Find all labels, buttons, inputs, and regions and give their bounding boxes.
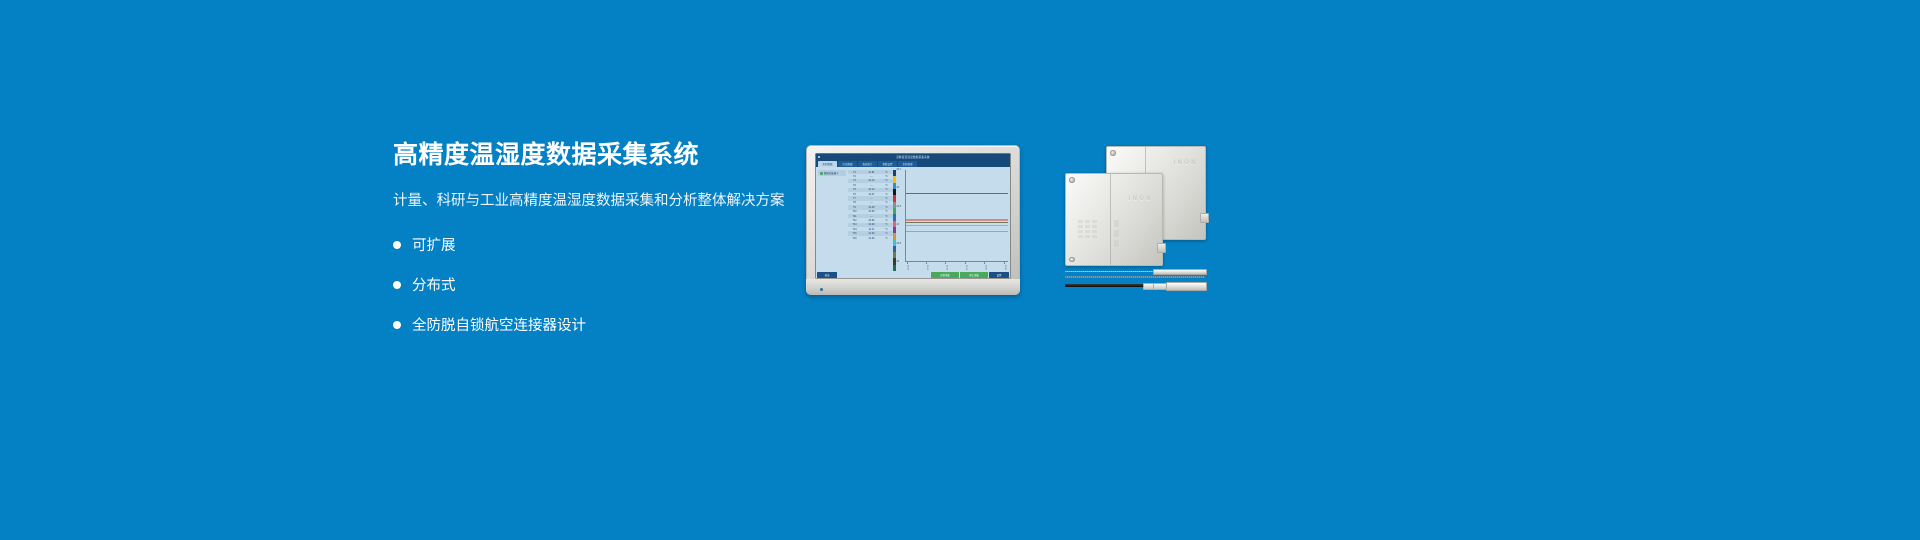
feature-item-3: 全防脱自锁航空连接器设计	[393, 314, 813, 335]
cell-channel: T14	[848, 228, 861, 231]
feature-item-2: 分布式	[393, 274, 813, 295]
device-node-label: 数据采集器-1	[824, 171, 838, 175]
feature-label: 分布式	[412, 274, 456, 295]
channel-color-legend	[893, 170, 896, 271]
cell-unit: ℃	[882, 193, 891, 196]
cell-value: 24.94	[861, 237, 882, 240]
online-status-icon	[820, 172, 823, 175]
cell-channel: T2	[848, 175, 861, 178]
cell-value: 24.12	[861, 188, 882, 191]
aviation-connector-shell	[1166, 282, 1207, 291]
settings-button[interactable]: 设置	[989, 272, 1009, 278]
probe-cable-black	[1065, 284, 1147, 287]
x-tick-label: 09:30	[965, 265, 967, 270]
cell-channel: T8	[848, 201, 861, 204]
chart-series-line	[906, 222, 1009, 223]
cell-unit: ℃	[882, 179, 891, 182]
cell-value: 24.06	[861, 210, 882, 213]
page-subtitle: 计量、科研与工业高精度温湿度数据采集和分析整体解决方案	[393, 192, 813, 211]
chart-series-line	[906, 231, 1009, 232]
screw-icon	[1110, 150, 1116, 156]
software-tabbar: 实时数据 历史数据 报表统计 参数设置 系统管理	[816, 160, 1010, 167]
temperature-probe-braided	[1065, 269, 1205, 274]
y-tick-label: 25	[897, 187, 900, 189]
x-tick-label: 09:50	[1004, 265, 1006, 270]
device-tree-panel: 数据采集器-1	[816, 167, 848, 271]
chart-plot-area	[905, 170, 1009, 262]
promo-banner: 高精度温湿度数据采集系统 计量、科研与工业高精度温湿度数据采集和分析整体解决方案…	[0, 0, 1920, 540]
x-tick-label: 09:20	[945, 265, 947, 270]
temperature-probe-aviation-connector	[1065, 283, 1205, 288]
cell-value: 23.92	[861, 219, 882, 222]
software-body: 数据采集器-1 T121.81℃T2---℃T324.19℃T4---℃T524…	[816, 167, 1010, 271]
brand-logo-back: INON	[1173, 160, 1198, 166]
cell-unit: ℃	[882, 206, 891, 209]
bullet-dot-icon	[393, 321, 401, 329]
probe-sheath	[1153, 269, 1207, 275]
port-icon	[1114, 230, 1119, 237]
app-icon	[818, 156, 820, 158]
cell-value: ---	[861, 215, 882, 218]
cell-value: 24.38	[861, 206, 882, 209]
cell-unit: ℃	[882, 215, 891, 218]
cell-channel: T3	[848, 179, 861, 182]
channel-table: T121.81℃T2---℃T324.19℃T4---℃T524.12℃T624…	[848, 167, 893, 271]
chart-y-axis: 25.12524.52423.523	[897, 170, 904, 262]
aviation-connector-port	[1200, 213, 1209, 223]
cell-channel: T11	[848, 215, 861, 218]
cell-channel: T7	[848, 197, 861, 200]
cell-channel: T4	[848, 184, 861, 187]
cell-value: 24.11	[861, 228, 882, 231]
screw-icon	[1069, 177, 1075, 183]
start-acquisition-button[interactable]: 开始采集	[931, 272, 959, 278]
cell-unit: ℃	[882, 237, 891, 240]
cell-unit: ℃	[882, 175, 891, 178]
x-tick-label: 09:00	[907, 265, 909, 270]
feature-label: 全防脱自锁航空连接器设计	[412, 314, 586, 335]
table-row[interactable]: T1624.94℃	[848, 236, 893, 240]
keypad-icon	[1078, 220, 1108, 246]
cell-channel: T1	[848, 171, 861, 174]
port-icon	[1114, 240, 1119, 247]
window-title: 高精度温湿度数据采集系统	[896, 155, 930, 159]
y-tick-label: 24.5	[897, 206, 901, 208]
cell-unit: ℃	[882, 228, 891, 231]
cell-value: ---	[861, 197, 882, 200]
cell-unit: ℃	[882, 223, 891, 226]
software-footer: 退出 开始采集 停止采集 设置	[816, 271, 1010, 278]
cell-unit: ℃	[882, 171, 891, 174]
cell-channel: T10	[848, 210, 861, 213]
cell-value: 24.19	[861, 179, 882, 182]
cell-value: 21.81	[861, 171, 882, 174]
y-tick-label: 25.1	[897, 169, 901, 171]
cell-value: ---	[861, 201, 882, 204]
cell-unit: ℃	[882, 219, 891, 222]
copy-block: 高精度温湿度数据采集系统 计量、科研与工业高精度温湿度数据采集和分析整体解决方案…	[393, 142, 813, 354]
x-tick-label: 09:10	[926, 265, 928, 270]
monitor-screen-well: 高精度温湿度数据采集系统 实时数据 历史数据 报表统计 参数设置 系统管理 数据…	[815, 153, 1011, 279]
cell-value: ---	[861, 184, 882, 187]
cell-unit: ℃	[882, 210, 891, 213]
feature-list: 可扩展 分布式 全防脱自锁航空连接器设计	[393, 234, 813, 335]
cell-unit: ℃	[882, 232, 891, 235]
screw-icon	[1069, 257, 1075, 263]
monitor-chin	[806, 279, 1020, 295]
panel-pc-monitor: 高精度温湿度数据采集系统 实时数据 历史数据 报表统计 参数设置 系统管理 数据…	[806, 145, 1020, 295]
hardware-group: INON INON	[1063, 143, 1208, 298]
chart-series-line	[906, 193, 1009, 194]
device-tree-node[interactable]: 数据采集器-1	[818, 170, 846, 176]
panel-seam	[1110, 174, 1111, 265]
feature-item-1: 可扩展	[393, 234, 813, 255]
exit-button[interactable]: 退出	[817, 272, 837, 278]
probe-cable	[1065, 271, 1155, 273]
cell-channel: T6	[848, 193, 861, 196]
stop-acquisition-button[interactable]: 停止采集	[960, 272, 988, 278]
cell-unit: ℃	[882, 188, 891, 191]
cell-channel: T16	[848, 237, 861, 240]
chart-x-axis: 09:0009:1009:2009:3009:4009:50	[905, 262, 1009, 271]
chart-series-line	[906, 220, 1009, 221]
cell-unit: ℃	[882, 197, 891, 200]
power-led-icon	[820, 288, 823, 291]
acquisition-module-front: INON	[1065, 173, 1163, 266]
cell-channel: T13	[848, 223, 861, 226]
bullet-dot-icon	[393, 281, 401, 289]
software-titlebar: 高精度温湿度数据采集系统	[816, 154, 1010, 160]
y-tick-label: 23.5	[897, 243, 901, 245]
y-tick-label: 24	[897, 224, 900, 226]
cell-channel: T12	[848, 219, 861, 222]
chart-series-line	[906, 219, 1009, 220]
bullet-dot-icon	[393, 241, 401, 249]
probe-cable-blue	[1065, 276, 1205, 278]
cell-unit: ℃	[882, 184, 891, 187]
trend-chart: 25.12524.52423.523 09:0009:1009:2009:300…	[897, 170, 1009, 271]
brand-logo-front: INON	[1128, 196, 1153, 202]
cell-value: 24.90	[861, 232, 882, 235]
x-tick-label: 09:40	[984, 265, 986, 270]
cell-channel: T5	[848, 188, 861, 191]
cell-channel: T15	[848, 232, 861, 235]
y-tick-label: 23	[897, 261, 900, 263]
cell-value: ---	[861, 175, 882, 178]
cell-unit: ℃	[882, 201, 891, 204]
software-screen: 高精度温湿度数据采集系统 实时数据 历史数据 报表统计 参数设置 系统管理 数据…	[816, 154, 1010, 278]
page-title: 高精度温湿度数据采集系统	[393, 142, 813, 170]
cell-value: 24.07	[861, 193, 882, 196]
cell-channel: T9	[848, 206, 861, 209]
chart-series-line	[906, 225, 1009, 226]
cell-value: 24.28	[861, 223, 882, 226]
port-icon	[1114, 220, 1119, 227]
aviation-connector-port	[1157, 243, 1166, 253]
feature-label: 可扩展	[412, 234, 456, 255]
